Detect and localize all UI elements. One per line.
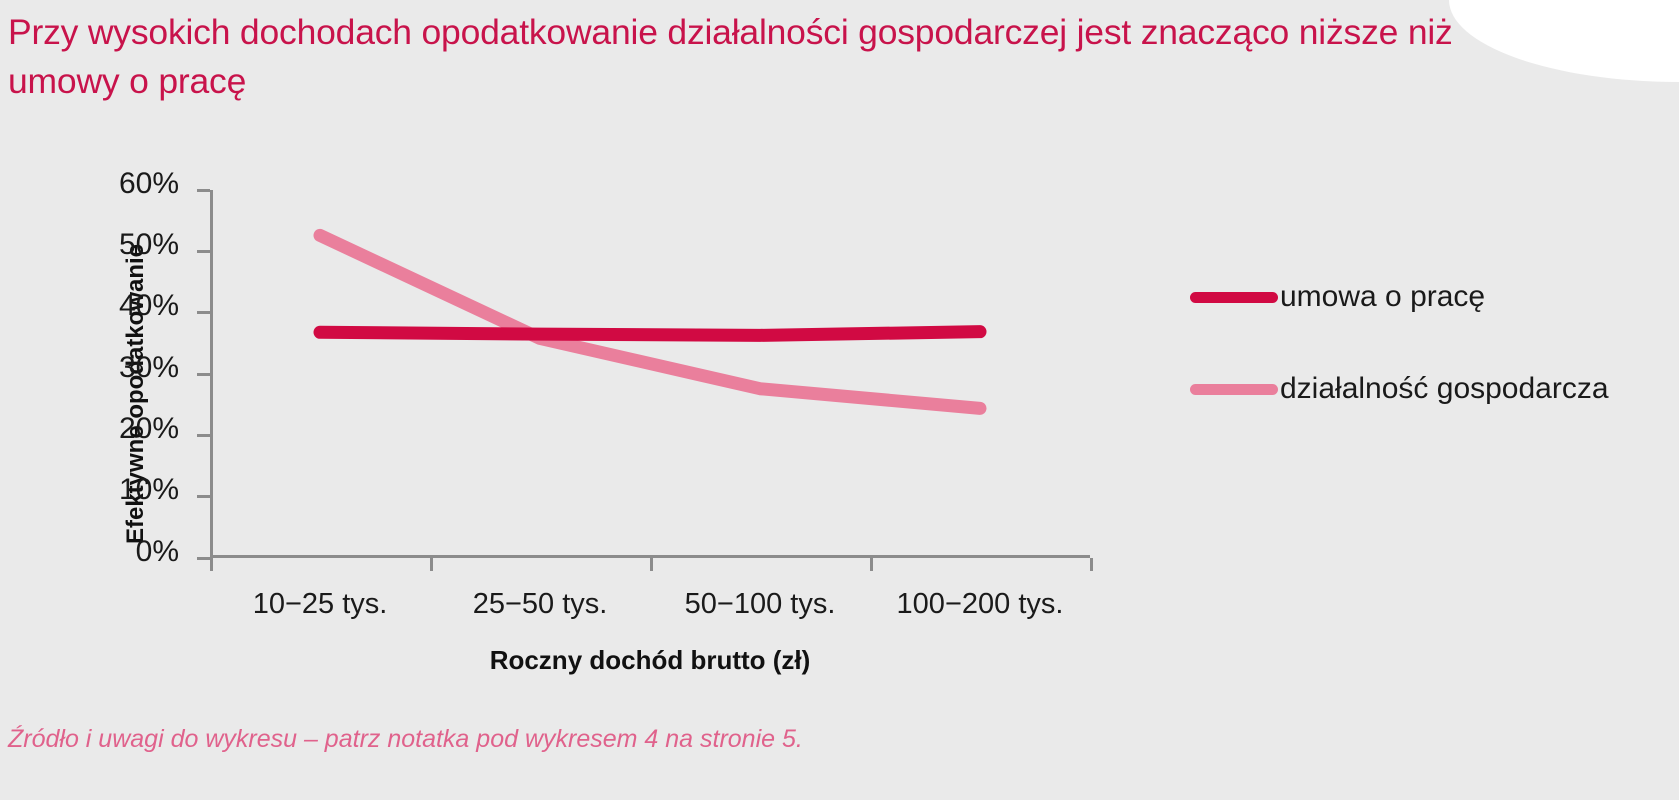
x-axis-tick (430, 558, 433, 571)
x-axis-category-label: 10−25 tys. (253, 588, 388, 621)
legend-swatch-icon (1190, 292, 1278, 303)
y-axis-tick: 20% (197, 434, 210, 437)
y-axis-tick-label: 10% (59, 473, 179, 507)
x-axis-category-label: 100−200 tys. (897, 588, 1064, 621)
x-axis-category-label: 25−50 tys. (473, 588, 608, 621)
x-axis-tick (210, 558, 213, 571)
y-axis-tick-label: 20% (59, 412, 179, 446)
series-line (320, 332, 980, 336)
series-line (320, 235, 980, 408)
x-axis-tick (1090, 558, 1093, 571)
x-axis-tick (870, 558, 873, 571)
y-axis-tick: 50% (197, 250, 210, 253)
x-axis-title: Roczny dochód brutto (zł) (210, 645, 1090, 676)
page-title: Przy wysokich dochodach opodatkowanie dz… (8, 8, 1568, 106)
y-axis-tick: 10% (197, 495, 210, 498)
y-axis-tick-label: 0% (59, 535, 179, 569)
legend-item-dzialalnosc: działalność gospodarcza (1190, 372, 1660, 406)
y-axis-tick: 0% (197, 557, 210, 560)
y-axis-tick: 40% (197, 311, 210, 314)
y-axis-tick-label: 60% (59, 167, 179, 201)
y-axis-tick: 30% (197, 373, 210, 376)
legend-item-label: umowa o pracę (1280, 280, 1485, 314)
x-axis-tick (650, 558, 653, 571)
legend-swatch-icon (1190, 384, 1278, 395)
plot-area: 0%10%20%30%40%50%60% 10−25 tys.25−50 tys… (210, 190, 1090, 558)
y-axis-tick-label: 50% (59, 228, 179, 262)
chart-legend: umowa o pracę działalność gospodarcza (1190, 280, 1660, 464)
y-axis-tick: 60% (197, 189, 210, 192)
chart-page: Przy wysokich dochodach opodatkowanie dz… (0, 0, 1679, 800)
y-axis-tick-label: 40% (59, 289, 179, 323)
y-axis-title: Efektywne opodatkowanie (122, 214, 150, 574)
legend-item-label: działalność gospodarcza (1280, 372, 1609, 406)
x-axis-category-label: 50−100 tys. (685, 588, 836, 621)
chart-container: Efektywne opodatkowanie 0%10%20%30%40%50… (0, 150, 1679, 690)
source-footnote: Źródło i uwagi do wykresu – patrz notatk… (8, 722, 803, 756)
legend-item-umowa: umowa o pracę (1190, 280, 1660, 314)
series-lines (210, 190, 1090, 558)
y-axis-tick-label: 30% (59, 351, 179, 385)
